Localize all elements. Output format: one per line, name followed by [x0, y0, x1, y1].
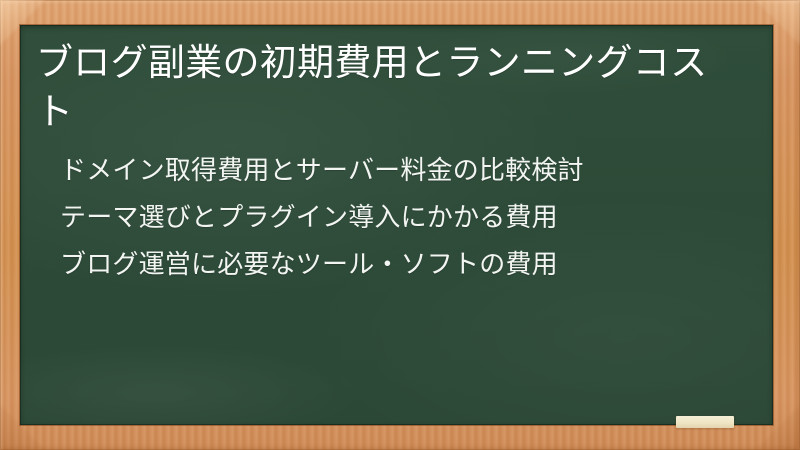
- board-title: ブログ副業の初期費用とランニングコスト: [36, 39, 726, 137]
- chalkboard-surface: ブログ副業の初期費用とランニングコスト ドメイン取得費用とサーバー料金の比較検討…: [20, 25, 773, 425]
- chalkboard-frame: ブログ副業の初期費用とランニングコスト ドメイン取得費用とサーバー料金の比較検討…: [0, 0, 800, 450]
- chalkboard-content: ブログ副業の初期費用とランニングコスト ドメイン取得費用とサーバー料金の比較検討…: [20, 25, 773, 425]
- chalk-piece: [676, 416, 734, 428]
- bullet-item-2: テーマ選びとプラグイン導入にかかる費用: [60, 204, 747, 230]
- bullet-item-1: ドメイン取得費用とサーバー料金の比較検討: [60, 157, 747, 183]
- bullet-item-3: ブログ運営に必要なツール・ソフトの費用: [60, 251, 747, 277]
- board-bullet-list: ドメイン取得費用とサーバー料金の比較検討 テーマ選びとプラグイン導入にかかる費用…: [36, 157, 747, 277]
